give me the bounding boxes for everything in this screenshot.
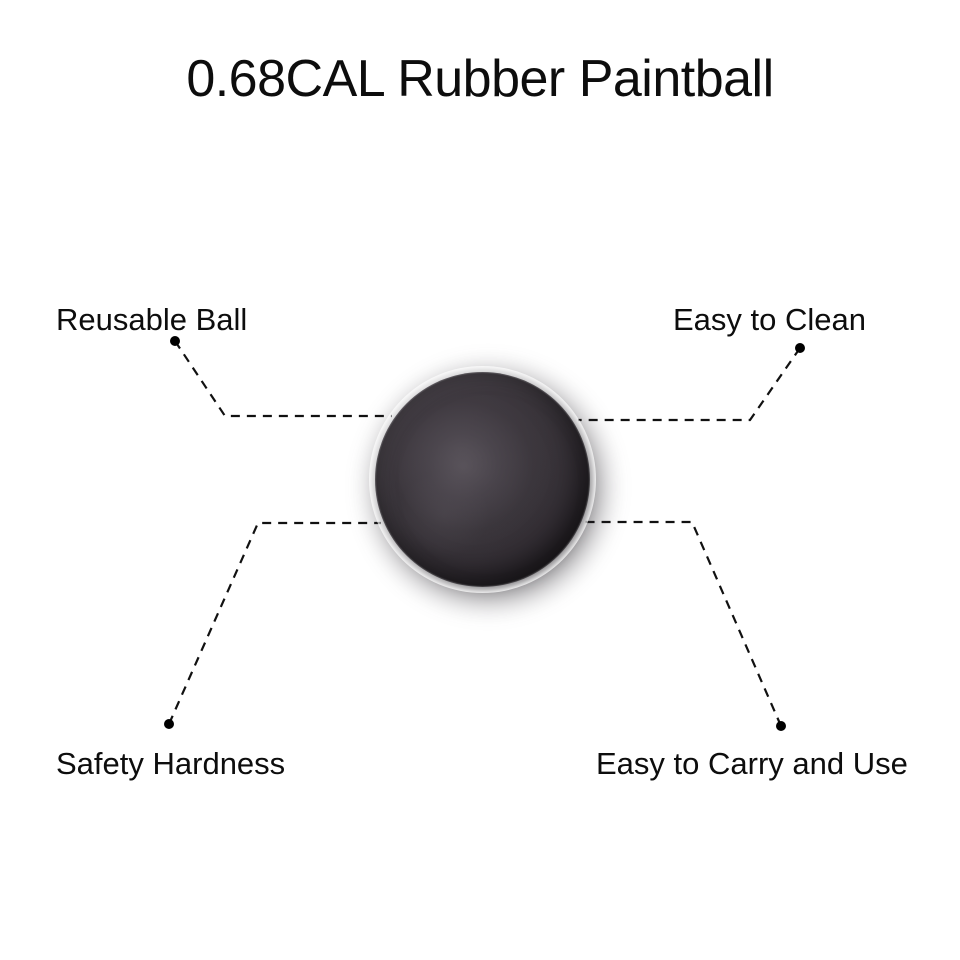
leader-line-safety-hardness [169,523,381,724]
product-image-paintball [375,372,590,587]
leader-line-easy-to-clean [578,348,800,420]
leader-dot-easy-to-clean [795,343,805,353]
feature-label-safety-hardness: Safety Hardness [56,746,285,782]
feature-label-easy-to-carry-and-use: Easy to Carry and Use [596,746,908,782]
feature-label-reusable-ball: Reusable Ball [56,302,247,338]
ball-edge-feather [369,366,596,593]
leader-dot-easy-to-carry-and-use [776,721,786,731]
infographic-canvas: 0.68CAL Rubber Paintball Reusable Ball E… [0,0,960,960]
feature-label-easy-to-clean: Easy to Clean [673,302,866,338]
leader-line-reusable-ball [175,341,392,416]
leader-dot-safety-hardness [164,719,174,729]
